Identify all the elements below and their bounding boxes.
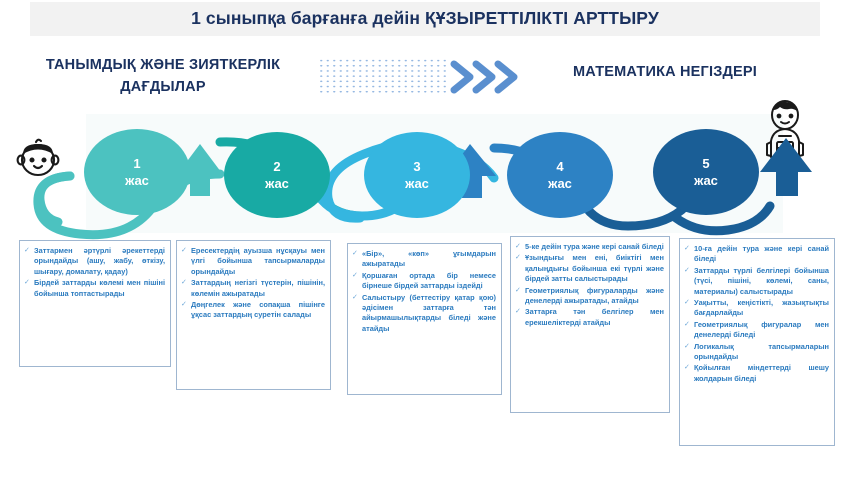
skills-box-age-5: 10-ға дейін тура және кері санай біледі …	[679, 238, 835, 446]
skills-box-age-2: Ересектердің ауызша нұсқауы мен үлгі бой…	[176, 240, 331, 390]
list-item: Логикалық тапсырмаларын орындайды	[684, 342, 829, 363]
list-item: Салыстыру (беттестіру қатар қою) әдісіме…	[352, 293, 496, 335]
skills-list-age-1: Заттармен әртүрлі әрекеттерді орындайды …	[24, 246, 165, 299]
skills-list-age-5: 10-ға дейін тура және кері санай біледі …	[684, 244, 829, 384]
section-label-math: МАТЕМАТИКА НЕГІЗДЕРІ	[520, 64, 810, 80]
list-item: Қоршаған ортада бір немесе бірнеше бірде…	[352, 271, 496, 292]
arrow-up-to-end	[760, 138, 812, 196]
list-item: Геометриялық фигураларды және денелерді …	[515, 286, 664, 307]
list-item: «Бір», «көп» ұғымдарын ажыратады	[352, 249, 496, 270]
list-item: Ұзындығы мен ені, биіктігі мен қалыңдығы…	[515, 253, 664, 284]
list-item: Ересектердің ауызша нұсқауы мен үлгі бой…	[181, 246, 325, 277]
list-item: 5-ке дейін тура және кері санай біледі	[515, 242, 664, 252]
infographic-canvas: 1 сыныпқа барғанға дейін ҚҰЗЫРЕТТІЛІКТІ …	[0, 0, 850, 479]
list-item: Дөңгелек және сопақша пішінге ұқсас затт…	[181, 300, 325, 321]
skills-list-age-2: Ересектердің ауызша нұсқауы мен үлгі бой…	[181, 246, 325, 321]
age-node-3	[364, 132, 470, 218]
list-item: Заттардың негізгі түстерін, пішінін, көл…	[181, 278, 325, 299]
skills-list-age-3: «Бір», «көп» ұғымдарын ажыратады Қоршаға…	[352, 249, 496, 334]
section-label-cognitive: ТАНЫМДЫҚ ЖӘНЕ ЗИЯТКЕРЛІК ДАҒДЫЛАР	[8, 54, 318, 98]
list-item: 10-ға дейін тура және кері санай біледі	[684, 244, 829, 265]
skills-box-age-3: «Бір», «көп» ұғымдарын ажыратады Қоршаға…	[347, 243, 502, 395]
list-item: Геометриялық фигуралар мен денелерді біл…	[684, 320, 829, 341]
age-node-1	[84, 129, 190, 215]
list-item: Бірдей заттарды көлемі мен пішіні бойынш…	[24, 278, 165, 299]
age-node-2	[224, 132, 330, 218]
arc-4-to-5-navy	[590, 206, 686, 226]
skills-box-age-1: Заттармен әртүрлі әрекеттерді орындайды …	[19, 240, 171, 367]
chevron-arrows-icon	[448, 56, 518, 98]
list-item: Уақытты, кеңістікті, жазықтықты бағдарла…	[684, 298, 829, 319]
dot-grid-icon	[318, 58, 446, 96]
age-node-4	[507, 132, 613, 218]
list-item: Қойылған міндеттерді шешу жолдарын білед…	[684, 363, 829, 384]
skills-list-age-4: 5-ке дейін тура және кері санай біледі Ұ…	[515, 242, 664, 328]
list-item: Заттарға тән белгілер мен ерекшеліктерді…	[515, 307, 664, 328]
skills-box-age-4: 5-ке дейін тура және кері санай біледі Ұ…	[510, 236, 670, 413]
page-title: 1 сыныпқа барғанға дейін ҚҰЗЫРЕТТІЛІКТІ …	[0, 0, 850, 36]
age-node-5	[653, 129, 759, 215]
age-flow-diagram	[0, 100, 850, 245]
list-item: Заттармен әртүрлі әрекеттерді орындайды …	[24, 246, 165, 277]
list-item: Заттарды түрлі белгілері бойынша (түсі, …	[684, 266, 829, 297]
